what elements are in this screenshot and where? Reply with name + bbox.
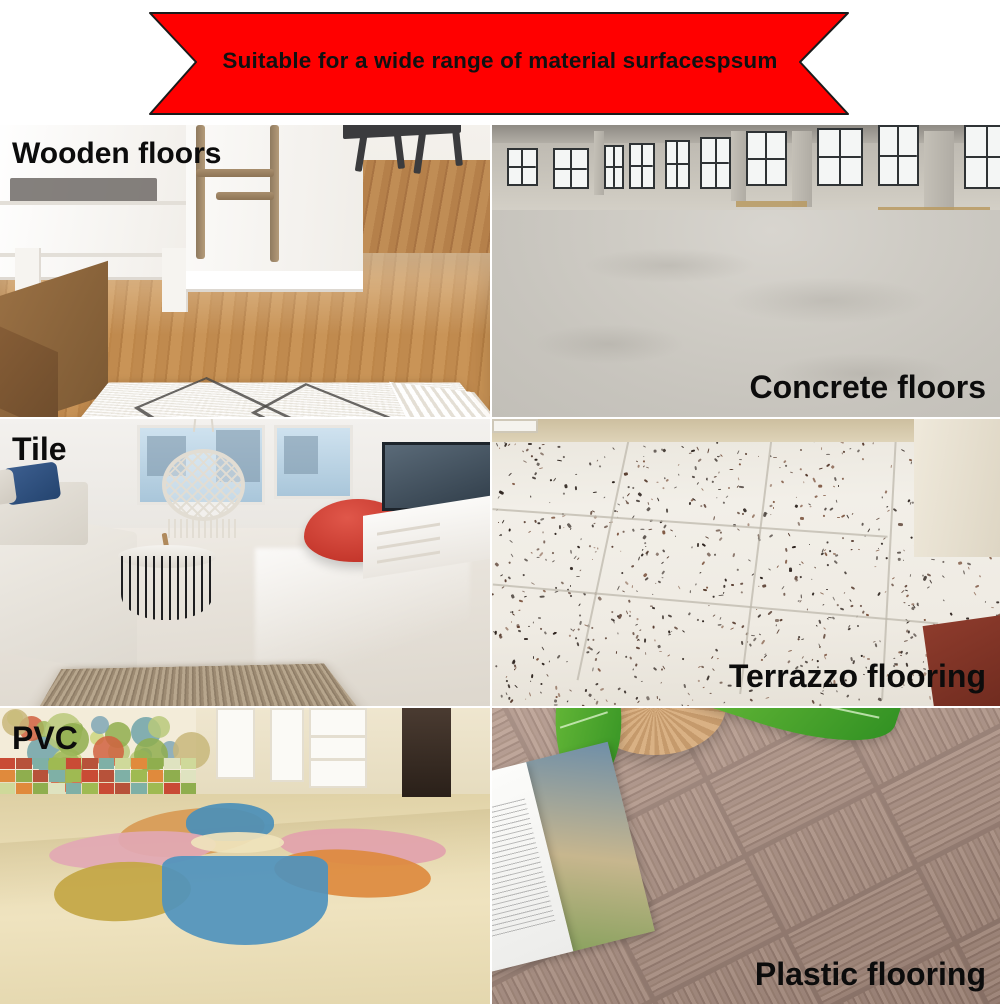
cell-label-pvc: PVC	[12, 722, 78, 754]
flooring-surface-grid: Wooden floors	[0, 125, 1000, 1000]
grid-cell-tile[interactable]: Tile	[0, 419, 490, 706]
grid-cell-terrazzo-flooring[interactable]: Terrazzo flooring	[492, 419, 1000, 706]
cell-label-terrazzo-flooring: Terrazzo flooring	[729, 660, 986, 692]
cell-label-wooden-floors: Wooden floors	[12, 139, 221, 169]
grid-cell-plastic-flooring[interactable]: Plastic flooring	[492, 708, 1000, 1004]
photo-tile	[0, 419, 490, 706]
grid-cell-wooden-floors[interactable]: Wooden floors	[0, 125, 490, 417]
banner-area: Suitable for a wide range of material su…	[0, 0, 1000, 122]
cell-label-plastic-flooring: Plastic flooring	[755, 958, 986, 990]
banner-ribbon-shape	[0, 0, 1000, 122]
grid-cell-concrete-floors[interactable]: Concrete floors	[492, 125, 1000, 417]
cell-label-tile: Tile	[12, 433, 67, 465]
cell-label-concrete-floors: Concrete floors	[750, 371, 986, 403]
grid-cell-pvc[interactable]: PVC	[0, 708, 490, 1004]
